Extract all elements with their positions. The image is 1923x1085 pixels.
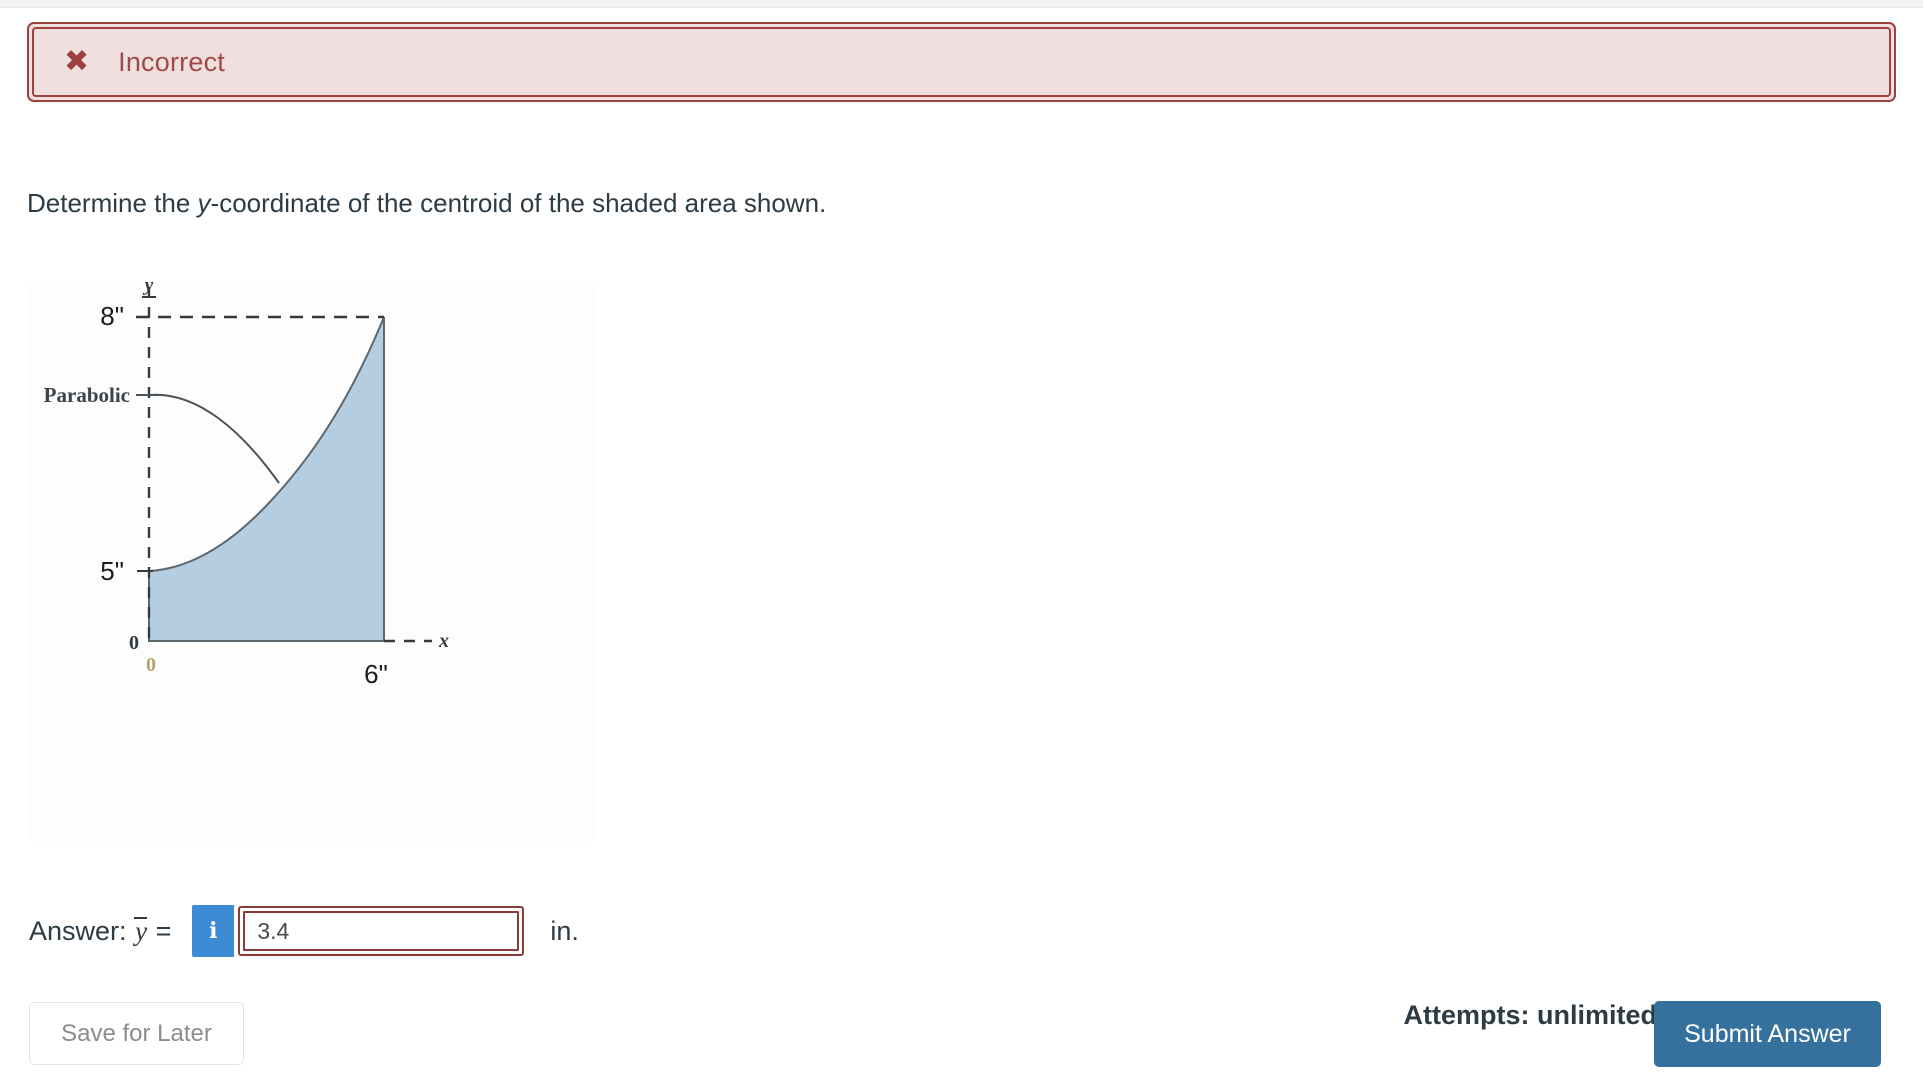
diagram-svg: y x 8" 5" 6" 0 0 Parabolic xyxy=(27,281,595,841)
alert-inner: ✖ Incorrect xyxy=(32,27,1891,97)
answer-unit: in. xyxy=(550,916,579,947)
shaded-region xyxy=(149,317,384,641)
answer-input-wrapper xyxy=(238,906,524,956)
x-mark-icon: ✖ xyxy=(64,47,89,77)
question-prompt: Determine the y-coordinate of the centro… xyxy=(27,188,826,219)
page-top-divider xyxy=(0,0,1923,8)
incorrect-alert: ✖ Incorrect xyxy=(27,22,1896,102)
y-bar-symbol: y xyxy=(134,916,148,947)
answer-row: Answer: y = i in. xyxy=(29,905,579,957)
curve-label: Parabolic xyxy=(44,383,130,407)
attempts-counter: Attempts: unlimited xyxy=(1404,1000,1658,1031)
prompt-variable: y xyxy=(198,188,211,218)
submit-answer-button[interactable]: Submit Answer xyxy=(1654,1001,1881,1067)
answer-input[interactable] xyxy=(243,911,519,951)
prompt-prefix: Determine the xyxy=(27,188,198,218)
parabolic-leader-line xyxy=(149,395,279,483)
shaded-area-diagram: y x 8" 5" 6" 0 0 Parabolic xyxy=(27,281,595,841)
y-axis-label: y xyxy=(143,281,154,296)
left-dimension-label: 5" xyxy=(100,556,124,586)
prompt-suffix: -coordinate of the centroid of the shade… xyxy=(211,188,827,218)
origin-label-y: 0 xyxy=(129,632,139,654)
x-axis-label: x xyxy=(438,630,449,652)
origin-label-x: 0 xyxy=(146,654,156,676)
top-dimension-label: 8" xyxy=(100,301,124,331)
answer-label-equals: = xyxy=(156,916,172,946)
bottom-dimension-label: 6" xyxy=(364,659,388,689)
answer-label: Answer: y = xyxy=(29,916,171,947)
answer-label-prefix: Answer: xyxy=(29,916,127,946)
info-icon[interactable]: i xyxy=(192,905,234,957)
save-for-later-button[interactable]: Save for Later xyxy=(29,1002,244,1065)
status-badge: Incorrect xyxy=(118,47,225,78)
